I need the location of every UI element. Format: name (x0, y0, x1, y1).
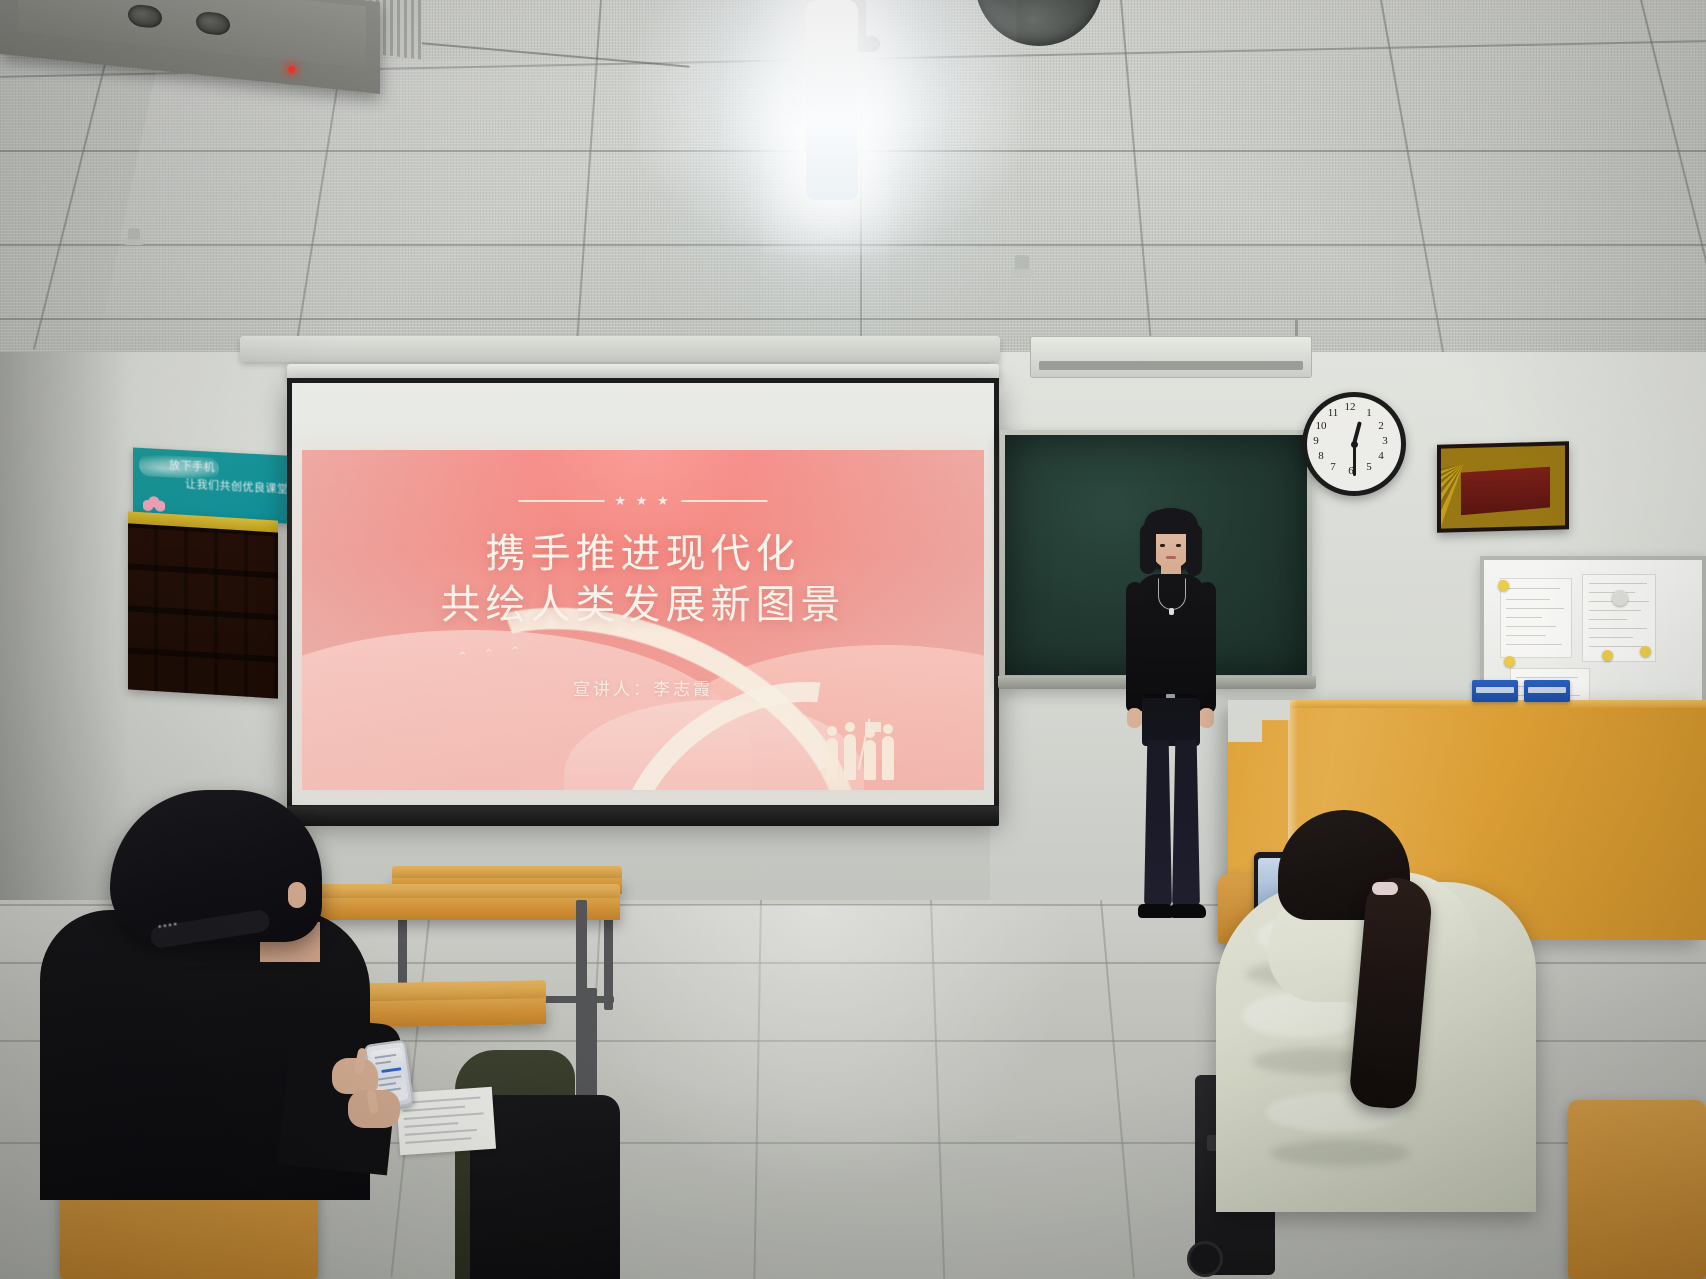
presenter-shoe-right (1170, 904, 1206, 918)
clock-face: 12 1 2 3 4 5 6 7 8 9 10 11 (1307, 397, 1401, 491)
clock-numeral: 9 (1309, 435, 1323, 447)
clock-numeral: 10 (1314, 420, 1328, 432)
clock-numeral: 2 (1374, 420, 1388, 432)
presenter-hips (1142, 698, 1200, 746)
clock-numeral: 3 (1378, 435, 1392, 447)
wall-ceiling-beam (240, 336, 1000, 362)
slide-presenter-line: 宣讲人：李志霞 (302, 675, 984, 700)
slide-divider: ★ ★ ★ (518, 494, 767, 507)
whiteboard-magnet[interactable] (1498, 580, 1509, 591)
wall-light-fixture (1030, 336, 1312, 378)
presenter-eye (1160, 544, 1165, 547)
clock-numeral: 5 (1362, 461, 1376, 473)
wall-clock: 12 1 2 3 4 5 6 7 8 9 10 11 (1302, 392, 1406, 496)
phone-pocket-organizer[interactable] (128, 511, 278, 698)
divider-line-left (518, 500, 604, 502)
banner-flower-icon (143, 494, 165, 513)
projector-body (18, 0, 366, 68)
fluorescent-tube-light-icon (806, 0, 858, 200)
phone-pocket-shading (128, 511, 278, 698)
clock-numeral: 8 (1314, 450, 1328, 462)
clock-numeral: 7 (1326, 461, 1340, 473)
plaque-gold-rays (1441, 445, 1565, 528)
plaque-red-banner (1461, 467, 1550, 516)
framed-honor-plaque (1437, 441, 1569, 532)
slide-walking-people-icon (822, 722, 906, 780)
presenter-arm-right (1198, 582, 1216, 714)
student-left-ear (288, 882, 306, 908)
slide-title-line2: 共绘人类发展新图景 (302, 579, 984, 630)
whiteboard-magnet[interactable] (1612, 590, 1628, 606)
presenter-hand-right (1199, 708, 1214, 728)
ceiling-grid-line (0, 318, 1706, 320)
clock-numeral: 12 (1343, 401, 1357, 413)
divider-stars: ★ ★ ★ (614, 494, 671, 507)
floor-light-reflection (560, 905, 1080, 1205)
projector-power-led-icon (288, 66, 295, 73)
presenter-shoe-left (1138, 904, 1174, 918)
presenter-mouth (1166, 556, 1176, 559)
chalk-box-blue[interactable] (1472, 680, 1518, 702)
whiteboard-notice-paper (1500, 578, 1572, 658)
slide-title: 携手推进现代化 共绘人类发展新图景 (302, 528, 984, 630)
whiteboard-magnet[interactable] (1504, 656, 1515, 667)
clock-numeral: 11 (1326, 407, 1340, 419)
suitcase-wheel-icon (1187, 1241, 1223, 1277)
presenter-arm-left (1126, 582, 1144, 714)
slide-title-line1: 携手推进现代化 (302, 528, 984, 579)
presentation-slide: ⌃ ⌃ ⌃ ★ ★ ★ 携手推进现代化 共绘人类发展新图景 宣讲人：李志霞 (302, 450, 984, 790)
fire-sprinkler-head-icon (1015, 255, 1029, 273)
necklace-icon (1158, 578, 1186, 610)
student-left-on-phone: ▪▪▪▪ (110, 790, 530, 1279)
clock-center-pin (1351, 441, 1358, 448)
clock-minute-hand (1353, 444, 1356, 476)
necklace-pendant-icon (1169, 608, 1174, 615)
chalk-box-blue[interactable] (1524, 680, 1570, 702)
presenter-hair-side (1186, 524, 1202, 576)
presenter-eye (1176, 544, 1181, 547)
presenter-hair-side (1140, 524, 1156, 574)
presenter-leg-left (1144, 740, 1172, 908)
presenter-leg-right (1172, 740, 1200, 908)
student-right-in-puffer (1240, 810, 1590, 1279)
presenter-hand-left (1127, 708, 1142, 728)
whiteboard-magnet[interactable] (1602, 650, 1613, 661)
whiteboard-magnet[interactable] (1640, 646, 1651, 657)
clock-numeral: 1 (1362, 407, 1376, 419)
divider-line-right (682, 500, 768, 502)
hair-tie-icon (1372, 882, 1398, 895)
fire-sprinkler-head-icon (128, 228, 140, 242)
presenter-standing (1100, 508, 1240, 928)
clock-numeral: 4 (1374, 450, 1388, 462)
classroom-scene: EPSON 放下手机 让我们共创优良课堂 ⌃ ⌃ ⌃ ★ ★ ★ (0, 0, 1706, 1279)
